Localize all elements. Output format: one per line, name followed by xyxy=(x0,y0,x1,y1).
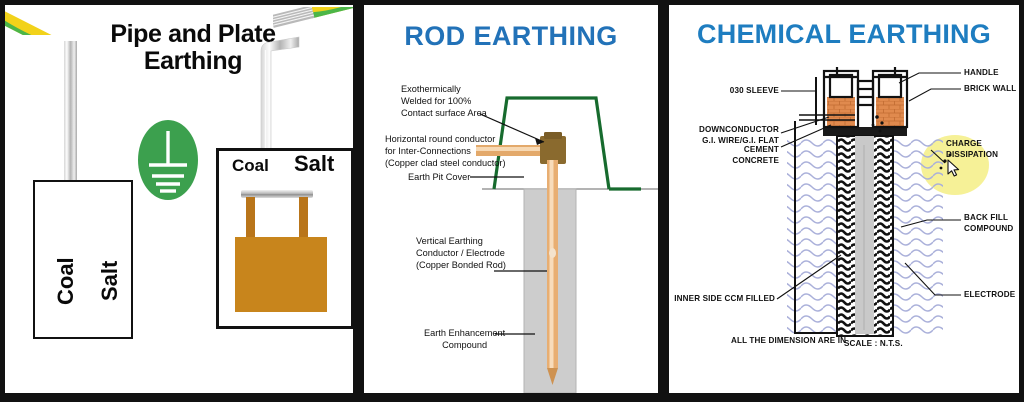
footer-dimension-note: ALL THE DIMENSION ARE IN xyxy=(731,336,846,347)
plate-box-label-coal: Coal xyxy=(232,156,269,176)
frame-edge-top xyxy=(0,0,1024,5)
frame-edge-left xyxy=(0,0,5,402)
pipe-box-label-coal: Coal xyxy=(53,257,79,305)
label-vertical-earthing-conductor: Vertical Earthing Conductor / Electrode … xyxy=(416,236,506,271)
label-handle: HANDLE xyxy=(964,68,999,79)
plate-box-label-salt: Salt xyxy=(294,151,334,177)
panel1-title-line2: Earthing xyxy=(144,47,242,75)
pipe-box-label-salt: Salt xyxy=(97,261,123,301)
label-earth-pit-cover: Earth Pit Cover xyxy=(408,172,470,184)
panel-rod-earthing: ROD EARTHING xyxy=(364,5,658,393)
panel-divider-1 xyxy=(353,0,364,402)
screenshot-stage: Pipe and Plate Earthing xyxy=(0,0,1024,402)
frame-edge-bottom xyxy=(0,393,1024,402)
label-charge-dissipation: CHARGE DISSIPATION xyxy=(946,139,998,160)
panel-chemical-earthing: CHEMICAL EARTHING xyxy=(669,5,1019,393)
label-inner-side-ccm-filled: INNER SIDE CCM FILLED xyxy=(669,294,775,305)
chemical-earthing-diagram xyxy=(669,5,1019,393)
label-cement-concrete: CEMENT CONCRETE xyxy=(675,145,779,166)
label-electrode: ELECTRODE xyxy=(964,290,1015,301)
label-030-sleeve: 030 SLEEVE xyxy=(691,86,779,97)
label-exothermic-weld: Exothermically Welded for 100% Contact s… xyxy=(401,84,487,119)
footer-scale-note: SCALE : N.T.S. xyxy=(844,339,903,350)
earth-wire-left-icon xyxy=(5,9,139,35)
label-downconductor: DOWNCONDUCTOR G.I. WIRE/G.I. FLAT xyxy=(675,125,779,146)
rod-earthing-diagram xyxy=(364,5,658,393)
label-horizontal-round-conductor: Horizontal round conductor for Inter-Con… xyxy=(385,134,506,169)
label-back-fill-compound: BACK FILL COMPOUND xyxy=(964,213,1013,234)
frame-edge-right xyxy=(1019,0,1024,402)
panel-divider-2 xyxy=(658,0,669,402)
label-earth-enhancement-compound: Earth Enhancement Compound xyxy=(424,328,505,352)
pipe-earthing-pit-box xyxy=(33,180,133,339)
copper-earth-plate xyxy=(235,237,327,312)
panel-pipe-and-plate-earthing: Pipe and Plate Earthing xyxy=(5,5,353,393)
label-brick-wall: BRICK WALL xyxy=(964,84,1016,95)
earth-ground-symbol-icon xyxy=(136,119,200,201)
